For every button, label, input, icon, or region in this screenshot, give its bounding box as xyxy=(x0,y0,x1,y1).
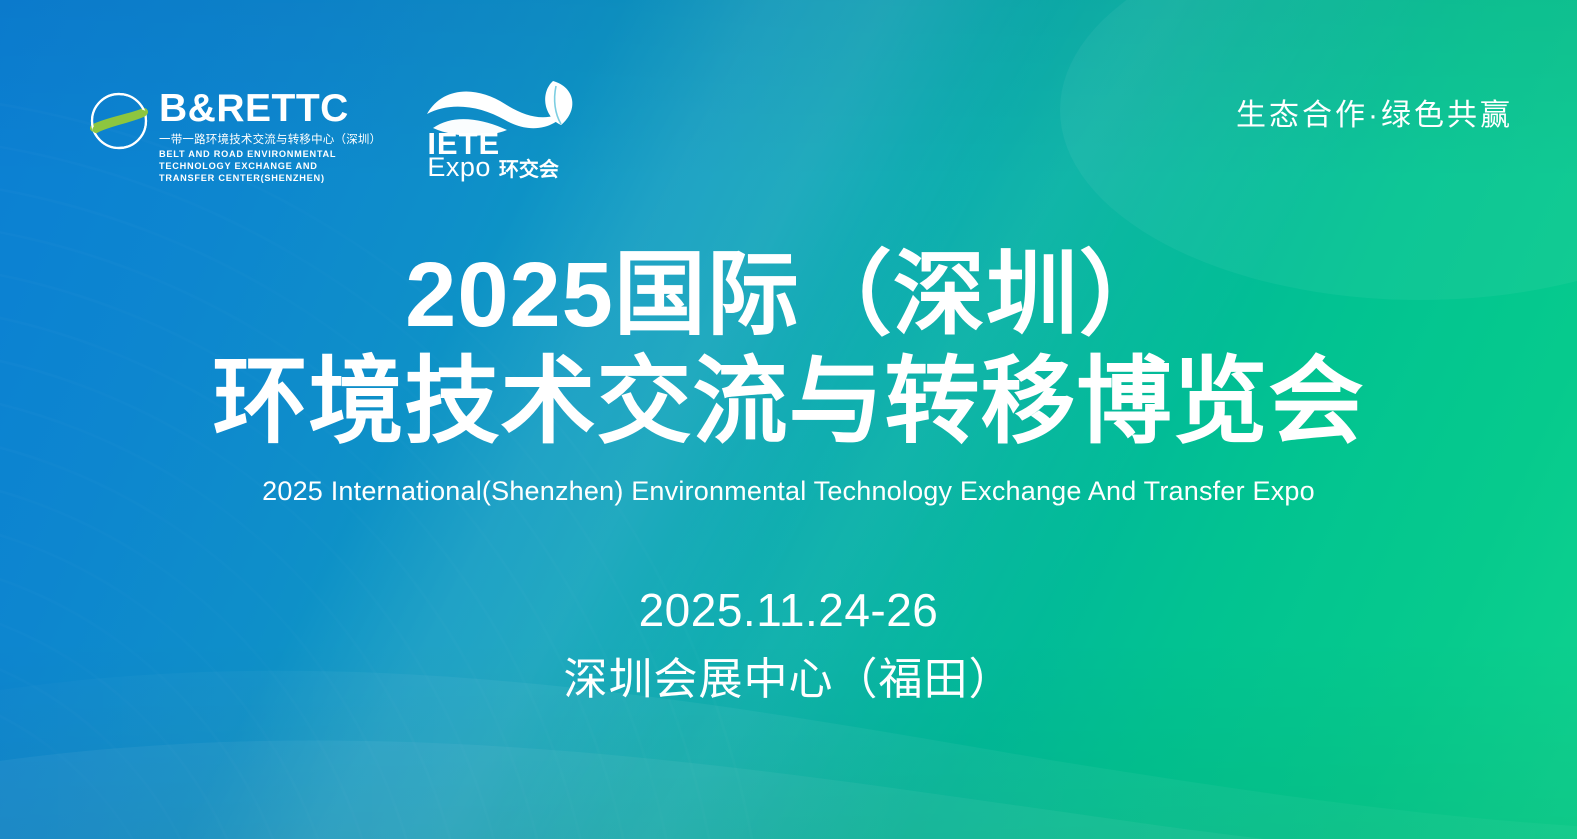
event-subtitle-english: 2025 International(Shenzhen) Environment… xyxy=(0,476,1577,507)
iete-subwordmark: Expo 环交会 xyxy=(427,154,559,181)
event-venue: 深圳会展中心（福田） xyxy=(0,643,1577,707)
event-date: 2025.11.24-26 xyxy=(0,583,1577,637)
brettc-text: B&RETTC 一带一路环境技术交流与转移中心（深圳） BELT AND ROA… xyxy=(159,88,381,185)
banner-header: B&RETTC 一带一路环境技术交流与转移中心（深圳） BELT AND ROA… xyxy=(0,0,1577,200)
iete-expo-text: Expo xyxy=(427,154,491,181)
event-title-line1: 2025国际（深圳） xyxy=(0,246,1577,345)
brettc-logo: B&RETTC 一带一路环境技术交流与转移中心（深圳） BELT AND ROA… xyxy=(88,78,381,185)
globe-icon xyxy=(88,90,150,152)
event-title-line2: 环境技术交流与转移博览会 xyxy=(0,349,1577,455)
logo-group: B&RETTC 一带一路环境技术交流与转移中心（深圳） BELT AND ROA… xyxy=(88,78,583,185)
brettc-english-name: BELT AND ROAD ENVIRONMENTAL TECHNOLOGY E… xyxy=(159,149,374,184)
banner-main: 2025国际（深圳） 环境技术交流与转移博览会 2025 Internation… xyxy=(0,246,1577,707)
event-banner: B&RETTC 一带一路环境技术交流与转移中心（深圳） BELT AND ROA… xyxy=(0,0,1577,839)
brettc-chinese-name: 一带一路环境技术交流与转移中心（深圳） xyxy=(159,131,381,147)
brettc-name: B&RETTC xyxy=(159,90,381,128)
iete-chinese-text: 环交会 xyxy=(499,160,559,180)
iete-expo-logo: IETE Expo 环交会 xyxy=(425,78,583,183)
header-tagline: 生态合作·绿色共赢 xyxy=(1236,78,1513,134)
